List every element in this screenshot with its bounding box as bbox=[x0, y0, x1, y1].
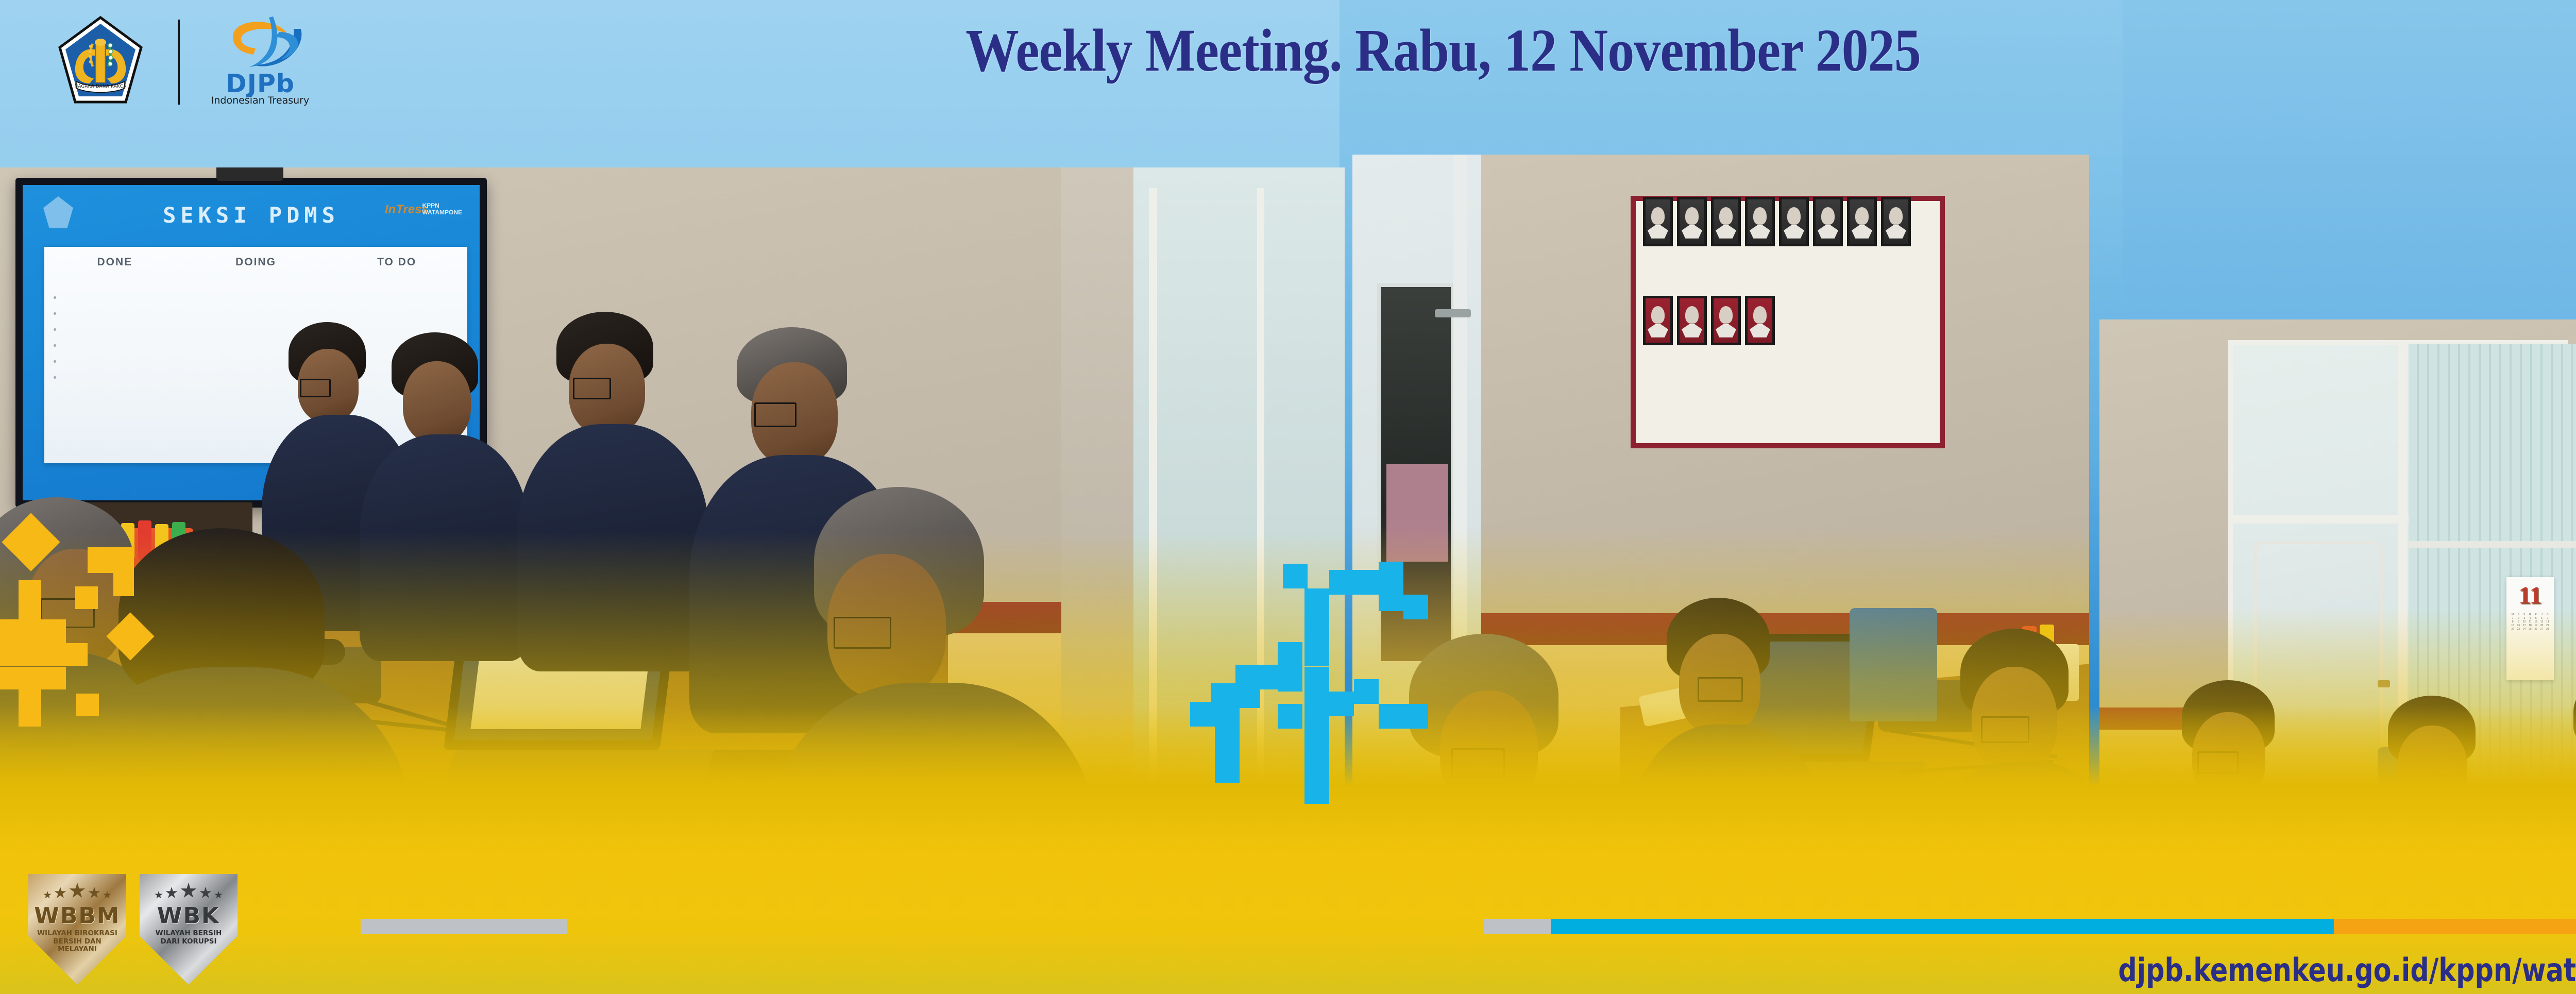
divider-bar-orange bbox=[2334, 919, 2576, 934]
divider-bar-gray-right bbox=[1484, 919, 1551, 934]
weekly-meeting-banner: SEKSI PDMS InTress KPPNWATAMPONE DONE DO… bbox=[0, 0, 2576, 994]
wbk-code: WBK bbox=[140, 903, 238, 929]
kemenkeu-logo: NAGARA DANA RAKCA bbox=[57, 15, 144, 106]
kemenkeu-pentagon-emblem: NAGARA DANA RAKCA bbox=[57, 15, 144, 106]
wbk-subtitle: WILAYAH BERSIH DARI KORUPSI bbox=[140, 930, 238, 946]
wbk-line2: DARI KORUPSI bbox=[160, 937, 216, 946]
wbbm-subtitle: WILAYAH BIROKRASI BERSIH DAN MELAYANI bbox=[28, 930, 126, 954]
divider-bar-cyan bbox=[1551, 919, 2334, 934]
kanban-column-done: DONE bbox=[44, 256, 185, 268]
wbk-stars bbox=[140, 883, 238, 899]
calendar-month-number: 11 bbox=[2506, 583, 2554, 608]
divider-bar-gray-left bbox=[361, 919, 567, 934]
pixel-motif-cyan-center bbox=[1206, 562, 1494, 804]
kanban-column-todo: TO DO bbox=[326, 256, 467, 268]
integrity-badges: WBBM WILAYAH BIROKRASI BERSIH DAN MELAYA… bbox=[28, 874, 238, 985]
wbk-line1: WILAYAH BERSIH bbox=[156, 929, 222, 937]
kemenkeu-motto: NAGARA DANA RAKCA bbox=[75, 84, 127, 89]
screen-intress-logo: InTress KPPNWATAMPONE bbox=[385, 200, 462, 224]
page-title: Weekly Meeting. Rabu, 12 November 2025 bbox=[173, 15, 2576, 86]
djpb-tagline: Indonesian Treasury bbox=[191, 95, 330, 106]
wbbm-badge: WBBM WILAYAH BIROKRASI BERSIH DAN MELAYA… bbox=[28, 874, 126, 985]
kanban-column-doing: DOING bbox=[185, 256, 327, 268]
pixel-motif-amber-left bbox=[0, 510, 191, 727]
website-url[interactable]: djpb.kemenkeu.go.id/kppn/watampone/id bbox=[2118, 951, 2576, 989]
wbbm-line2: BERSIH DAN MELAYANI bbox=[53, 937, 101, 954]
wbbm-line1: WILAYAH BIROKRASI bbox=[37, 929, 117, 937]
wbbm-code: WBBM bbox=[28, 903, 126, 929]
wbk-badge: WBK WILAYAH BERSIH DARI KORUPSI bbox=[140, 874, 238, 985]
wbbm-stars bbox=[28, 883, 126, 899]
officials-portrait-wall bbox=[1631, 196, 1945, 448]
